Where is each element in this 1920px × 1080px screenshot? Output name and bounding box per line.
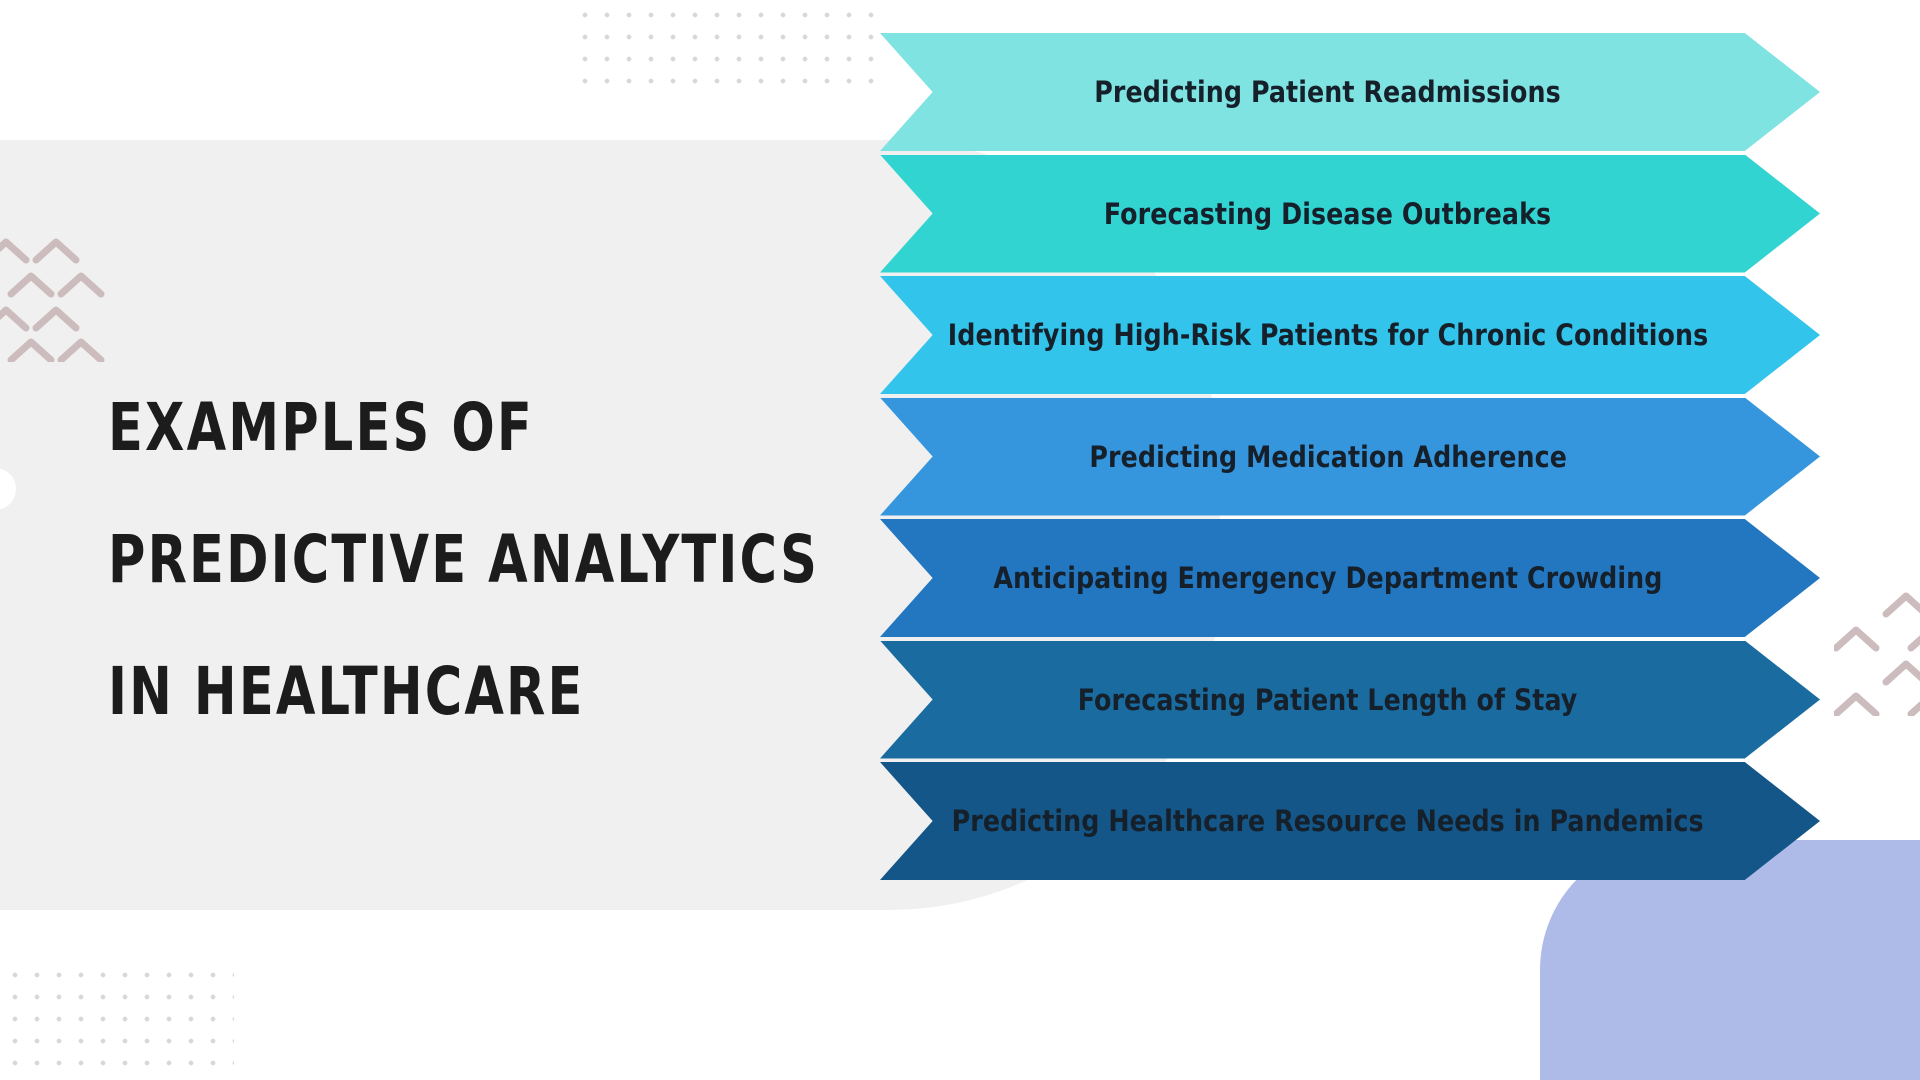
- banner-item-6[interactable]: Forecasting Patient Length of Stay: [880, 641, 1820, 759]
- panel-notch-shape: [0, 468, 16, 510]
- banner-item-4[interactable]: Predicting Medication Adherence: [880, 398, 1820, 516]
- banner-item-3[interactable]: Identifying High-Risk Patients for Chron…: [880, 276, 1820, 394]
- title-line-1: EXAMPLES OF: [108, 362, 693, 494]
- page-title: EXAMPLES OF PREDICTIVE ANALYTICS IN HEAL…: [108, 362, 788, 758]
- banner-item-7[interactable]: Predicting Healthcare Resource Needs in …: [880, 762, 1820, 880]
- banner-label: Predicting Medication Adherence: [1089, 440, 1567, 474]
- banner-item-5[interactable]: Anticipating Emergency Department Crowdi…: [880, 519, 1820, 637]
- title-line-2: PREDICTIVE ANALYTICS: [108, 494, 693, 626]
- banner-label: Predicting Patient Readmissions: [1095, 75, 1562, 109]
- banner-label: Forecasting Disease Outbreaks: [1104, 197, 1551, 231]
- dot-grid-top-icon: [572, 2, 890, 94]
- banner-label: Identifying High-Risk Patients for Chron…: [948, 318, 1709, 352]
- banner-item-2[interactable]: Forecasting Disease Outbreaks: [880, 155, 1820, 273]
- title-line-3: IN HEALTHCARE: [108, 626, 693, 758]
- chevron-cluster-right-icon: [1834, 586, 1920, 721]
- chevron-cluster-left-icon: [0, 232, 134, 367]
- banner-label: Forecasting Patient Length of Stay: [1078, 683, 1578, 717]
- banner-label: Anticipating Emergency Department Crowdi…: [993, 561, 1662, 595]
- dot-grid-bottom-left-icon: [2, 962, 234, 1078]
- banner-label: Predicting Healthcare Resource Needs in …: [952, 804, 1704, 838]
- infographic-canvas: EXAMPLES OF PREDICTIVE ANALYTICS IN HEAL…: [0, 0, 1920, 1080]
- banner-item-1[interactable]: Predicting Patient Readmissions: [880, 33, 1820, 151]
